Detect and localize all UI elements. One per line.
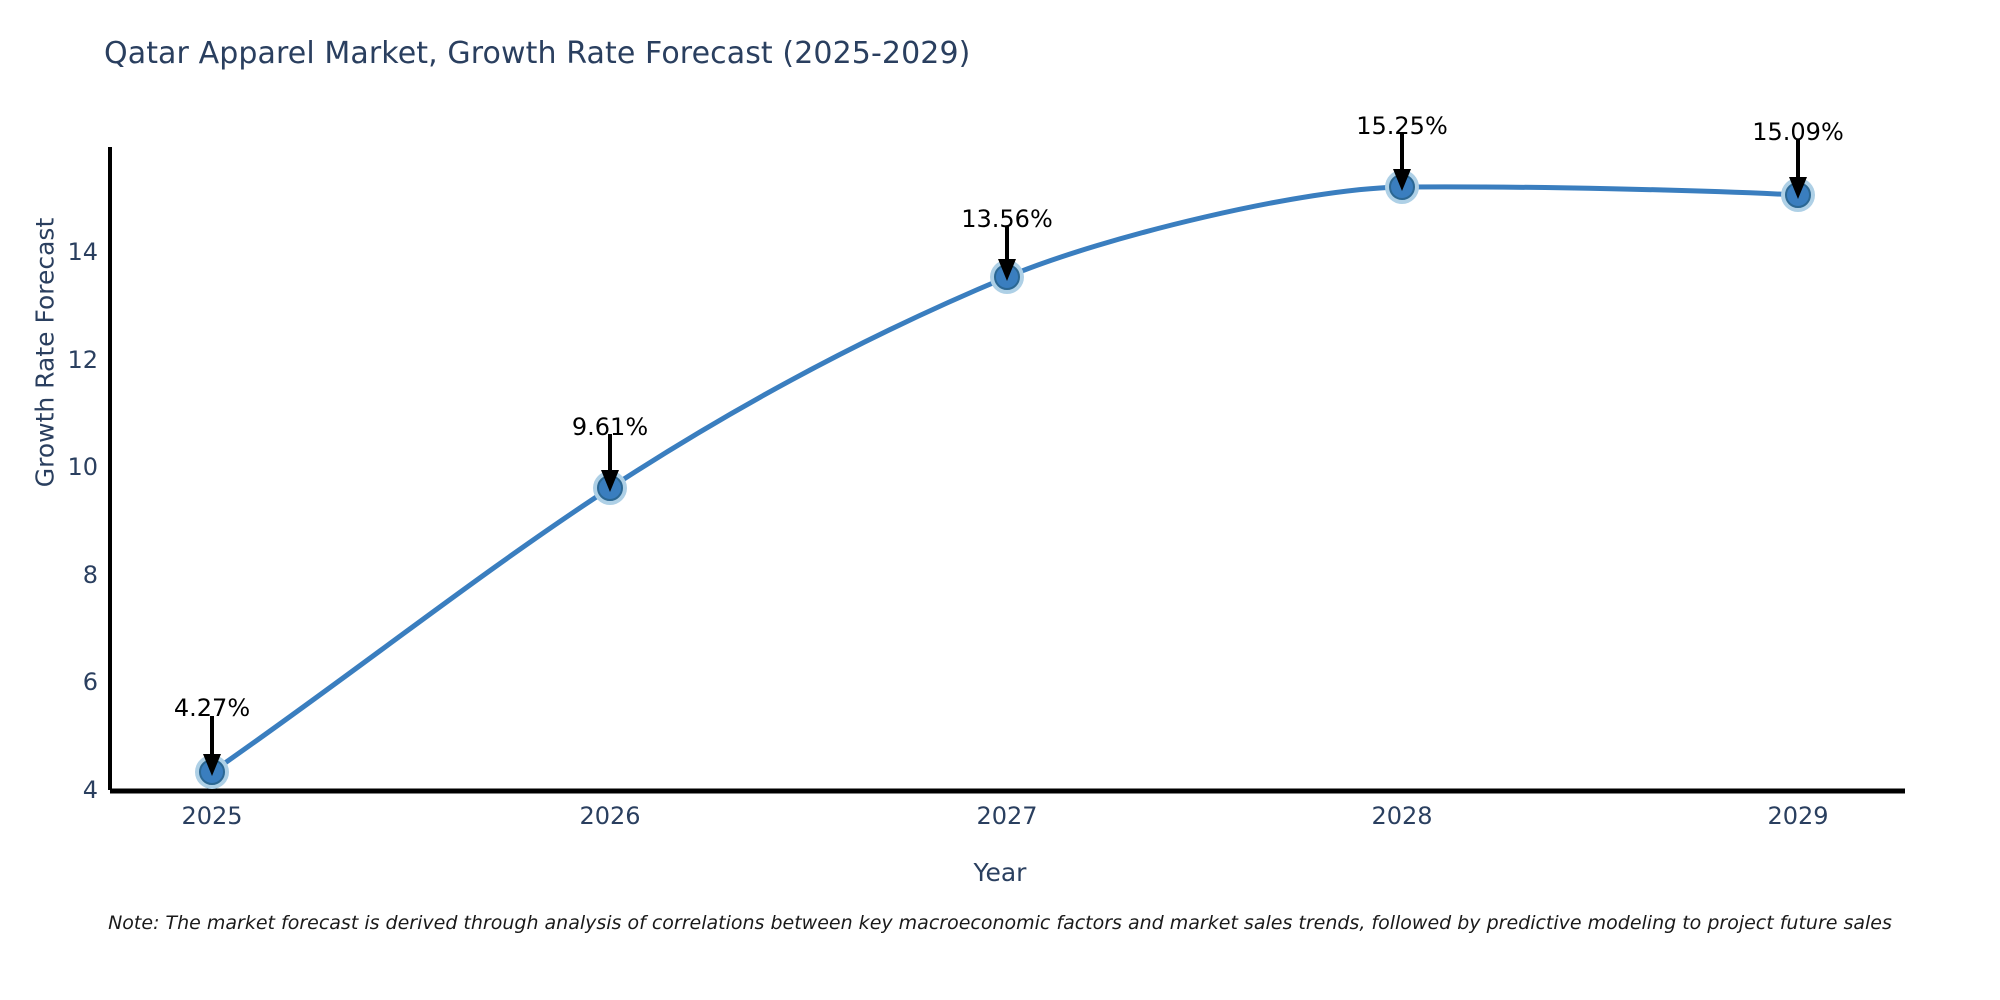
data-point-annotation: 9.61% <box>500 413 720 441</box>
x-tick-label: 2026 <box>530 802 690 830</box>
y-tick-label: 6 <box>0 668 98 696</box>
chart-figure: Qatar Apparel Market, Growth Rate Foreca… <box>0 0 2000 1000</box>
x-tick-label: 2028 <box>1322 802 1482 830</box>
data-point-annotation: 13.56% <box>897 205 1117 233</box>
plot-canvas <box>0 0 2000 1000</box>
y-tick-label: 8 <box>0 561 98 589</box>
data-point-annotation: 15.09% <box>1688 118 1908 146</box>
data-point-annotation: 15.25% <box>1292 112 1512 140</box>
x-axis-title: Year <box>0 858 2000 887</box>
y-tick-label: 12 <box>0 346 98 374</box>
x-tick-label: 2027 <box>927 802 1087 830</box>
data-point-annotation: 4.27% <box>102 694 322 722</box>
y-tick-label: 10 <box>0 453 98 481</box>
y-tick-label: 14 <box>0 238 98 266</box>
x-tick-label: 2025 <box>132 802 292 830</box>
chart-footnote: Note: The market forecast is derived thr… <box>0 912 2000 934</box>
x-tick-label: 2029 <box>1718 802 1878 830</box>
y-tick-label: 4 <box>0 776 98 804</box>
